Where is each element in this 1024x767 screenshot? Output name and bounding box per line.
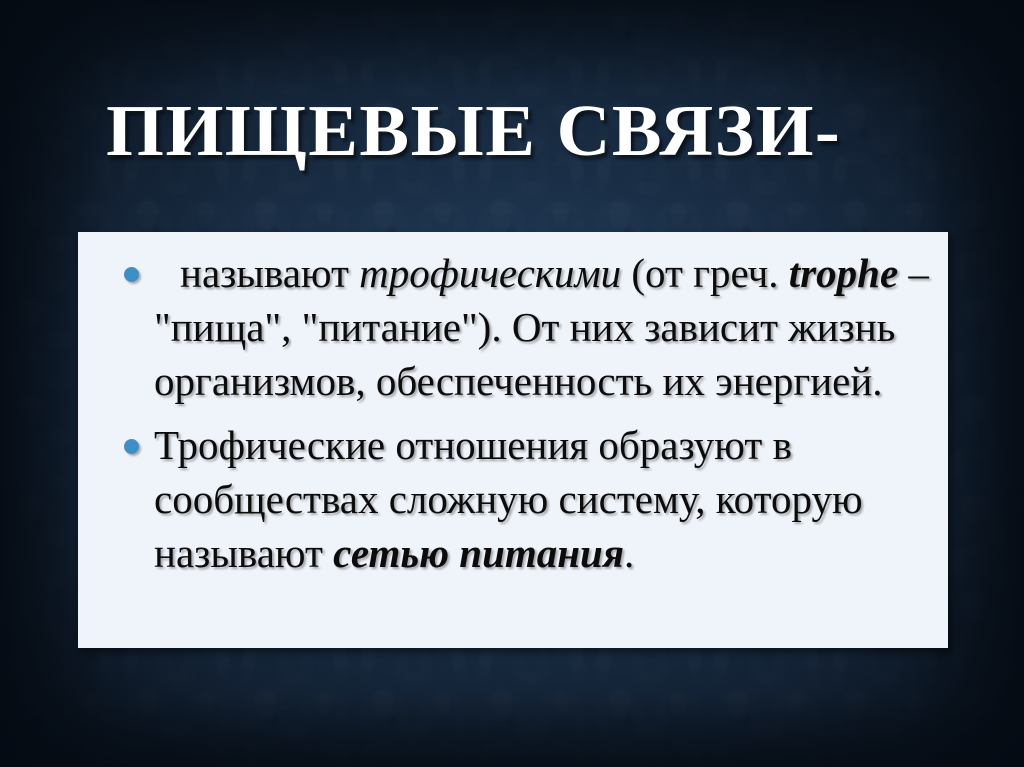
bullet-list: называют трофическими (от греч. trophe –… <box>78 232 948 580</box>
list-item: называют трофическими (от греч. trophe –… <box>100 246 936 408</box>
run-italic-trofiko: трофическими <box>359 250 621 296</box>
run-regular-1: называют <box>180 250 359 296</box>
bullet-1-text: называют трофическими (от греч. trophe –… <box>154 246 936 408</box>
bullet-dot-icon <box>124 439 139 454</box>
run-bold-italic-trophe: trophe <box>789 250 898 296</box>
slide: ПИЩЕВЫЕ СВЯЗИ- называют трофическими (от… <box>0 0 1024 767</box>
run-regular-5: . <box>624 530 634 576</box>
slide-title: ПИЩЕВЫЕ СВЯЗИ- <box>106 92 983 170</box>
bullet-dot-icon <box>124 267 139 282</box>
list-item: Трофические отношения образуют в сообщес… <box>100 418 936 580</box>
run-bold-italic-set-pitaniya: сетью питания <box>333 530 624 576</box>
run-regular-2: (от греч. <box>621 250 789 296</box>
bullet-2-text: Трофические отношения образуют в сообщес… <box>154 418 936 580</box>
content-panel: называют трофическими (от греч. trophe –… <box>78 232 948 648</box>
